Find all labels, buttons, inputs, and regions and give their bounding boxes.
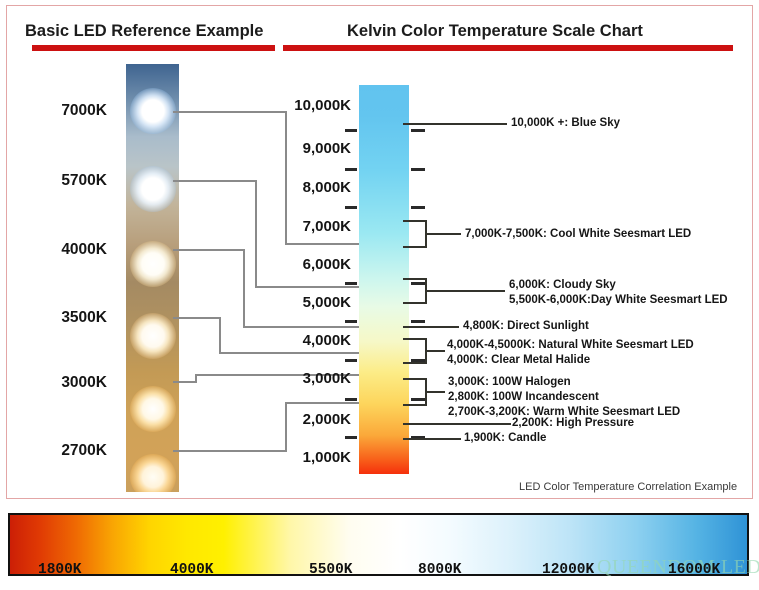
annotation-direct-sunlight: 4,800K: Direct Sunlight (463, 320, 589, 332)
left-title-rule (32, 45, 275, 51)
scale-label-4000k: 4,000K (265, 332, 351, 349)
connector-4000k-h2 (243, 326, 359, 328)
led-glow-3500k (130, 313, 176, 359)
annotation-natural-white: 4,000K-4,5000K: Natural White Seesmart L… (447, 339, 694, 351)
connector-2700k-h2 (285, 402, 359, 404)
connector-5700k-h2 (255, 286, 359, 288)
bottom-tick-8000k: 8000K (418, 562, 462, 578)
kelvin-color-temperature-infographic: Basic LED Reference Example Kelvin Color… (0, 0, 759, 590)
scale-label-7000k: 7,000K (265, 218, 351, 235)
scale-tick-right-5 (411, 320, 425, 323)
scale-label-3000k: 3,000K (265, 370, 351, 387)
annotation-candle: 1,900K: Candle (464, 432, 546, 444)
led-glow-3000k (130, 386, 176, 432)
scale-tick-left-8 (345, 436, 357, 439)
leader-blue-sky (403, 123, 507, 125)
connector-3500k-v (219, 317, 221, 354)
top-panel: Basic LED Reference Example Kelvin Color… (6, 5, 753, 499)
bottom-tick-5500k: 5500K (309, 562, 353, 578)
bottom-tick-16000k: 16000K (668, 562, 720, 578)
scale-label-6000k: 6,000K (265, 256, 351, 273)
connector-7000k-h2 (285, 243, 359, 245)
leader-direct-sunlight (403, 326, 459, 328)
bracket-cool-white (403, 220, 427, 248)
scale-label-9000k: 9,000K (265, 140, 351, 157)
connector-3500k-h1 (173, 317, 221, 319)
bottom-gradient-bar (8, 513, 749, 576)
leader-candle (403, 438, 461, 440)
connector-3500k-h2 (219, 352, 359, 354)
kelvin-gradient-bar (359, 85, 409, 474)
connector-5700k-v (255, 180, 257, 287)
panel-caption: LED Color Temperature Correlation Exampl… (519, 481, 737, 493)
led-label-2700k: 2700K (11, 442, 107, 460)
annotation-blue-sky: 10,000K +: Blue Sky (511, 117, 620, 129)
connector-4000k-v (243, 249, 245, 328)
scale-tick-left-2 (345, 168, 357, 171)
bracket-warm-white (403, 378, 427, 406)
led-label-5700k: 5700K (11, 172, 107, 190)
scale-tick-left-5 (345, 320, 357, 323)
bottom-tick-12000k: 12000K (542, 562, 594, 578)
scale-tick-left-7 (345, 398, 357, 401)
leader-cool-white (427, 233, 461, 235)
leader-high-pressure (403, 423, 511, 425)
bottom-tick-1800k: 1800K (38, 562, 82, 578)
led-glow-2700k (130, 454, 176, 492)
annotation-high-pressure: 2,200K: High Pressure (512, 417, 634, 429)
led-strip-photo (126, 64, 179, 492)
led-glow-4000k (130, 241, 176, 287)
led-label-3500k: 3500K (11, 309, 107, 327)
scale-tick-right-2 (411, 168, 425, 171)
scale-label-10000k: 10,000K (265, 97, 351, 114)
scale-tick-right-1 (411, 129, 425, 132)
leader-day-white (427, 290, 505, 292)
left-panel-title: Basic LED Reference Example (25, 22, 263, 41)
leader-natural-white (427, 350, 445, 352)
annotation-incandescent: 2,800K: 100W Incandescent (448, 391, 599, 403)
scale-label-8000k: 8,000K (265, 179, 351, 196)
connector-3000k-h1 (173, 381, 197, 383)
scale-tick-left-6 (345, 359, 357, 362)
annotation-cool-white: 7,000K-7,500K: Cool White Seesmart LED (465, 228, 691, 240)
scale-label-1000k: 1,000K (265, 449, 351, 466)
scale-label-5000k: 5,000K (265, 294, 351, 311)
led-glow-7000k (130, 88, 176, 134)
annotation-cloudy-sky: 6,000K: Cloudy Sky (509, 279, 616, 291)
right-title-rule (283, 45, 733, 51)
scale-label-2000k: 2,000K (265, 411, 351, 428)
scale-tick-left-4 (345, 282, 357, 285)
led-label-7000k: 7000K (11, 102, 107, 120)
connector-5700k-h1 (173, 180, 257, 182)
annotation-metal-halide: 4,000K: Clear Metal Halide (447, 354, 590, 366)
bottom-tick-4000k: 4000K (170, 562, 214, 578)
leader-warm-white (427, 391, 445, 393)
right-panel-title: Kelvin Color Temperature Scale Chart (347, 22, 643, 41)
led-label-3000k: 3000K (11, 374, 107, 392)
annotation-day-white: 5,500K-6,000K:Day White Seesmart LED (509, 294, 728, 306)
scale-tick-left-3 (345, 206, 357, 209)
led-glow-5700k (130, 166, 176, 212)
scale-tick-left-1 (345, 129, 357, 132)
led-label-4000k: 4000K (11, 241, 107, 259)
bracket-natural-white (403, 338, 427, 364)
annotation-halogen: 3,000K: 100W Halogen (448, 376, 571, 388)
connector-4000k-h1 (173, 249, 245, 251)
bracket-day-white (403, 278, 427, 304)
scale-tick-right-3 (411, 206, 425, 209)
